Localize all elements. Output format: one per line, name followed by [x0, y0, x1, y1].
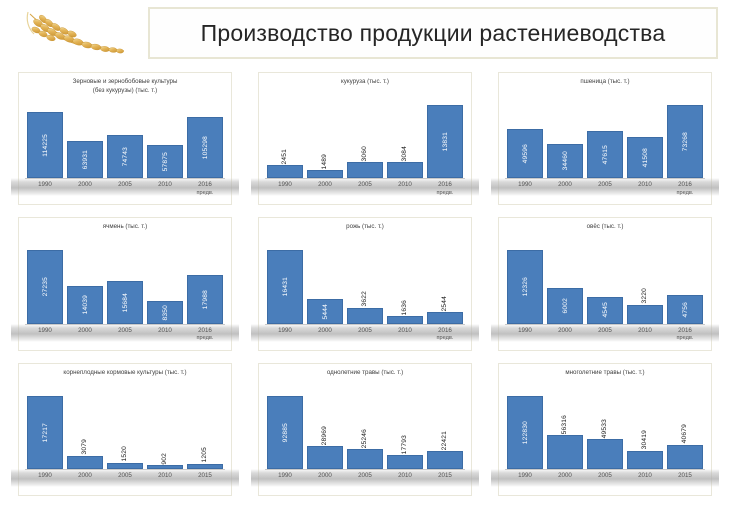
- bar-value-label: 1489: [321, 154, 328, 169]
- x-axis-tick-note: предв.: [667, 190, 703, 198]
- chart-title: ячмень (тыс. т.): [19, 223, 231, 232]
- x-axis-tick: 1990: [27, 181, 63, 189]
- x-axis: 19902000200520102016предв.: [25, 325, 225, 348]
- x-axis-tick: 2000: [307, 181, 343, 189]
- chart-panel-root-fodder-crops[interactable]: корнеплодные кормовые культуры (тыс. т.)…: [18, 363, 232, 496]
- bar-value-label: 16431: [282, 277, 289, 296]
- bar[interactable]: 3079: [67, 456, 103, 469]
- bar[interactable]: 3084: [387, 162, 423, 178]
- bar-slot: 5444: [307, 240, 343, 323]
- bar-value-label: 13831: [442, 132, 449, 151]
- bar-value-label: 74743: [122, 147, 129, 166]
- bar[interactable]: 22421: [427, 451, 463, 469]
- bar-slot: 63931: [67, 103, 103, 178]
- x-axis: 19902000200520102016предв.: [265, 179, 465, 202]
- bar[interactable]: 17988: [187, 275, 223, 323]
- bar-slot: 74743: [107, 103, 143, 178]
- bar-value-label: 3084: [401, 146, 408, 161]
- bar-slot: 57875: [147, 103, 183, 178]
- x-axis-tick-note: предв.: [667, 335, 703, 343]
- plot-area: 245114893060308413831: [265, 95, 465, 178]
- bar-slot: 1489: [307, 95, 343, 178]
- bar-slot: 4756: [667, 240, 703, 323]
- bar-slot: 14039: [67, 240, 103, 323]
- x-axis-tick: 1990: [27, 472, 63, 480]
- bar[interactable]: 3622: [347, 308, 383, 324]
- chart-title-line1: рожь (тыс. т.): [346, 223, 384, 230]
- bar[interactable]: 28969: [307, 446, 343, 469]
- chart-panel-grains[interactable]: Зерновые и зернобобовые культуры (без ку…: [18, 72, 232, 205]
- bar[interactable]: 5444: [307, 299, 343, 323]
- bar-value-label: 30419: [641, 430, 648, 449]
- chart-panel-corn[interactable]: кукуруза (тыс. т.) 245114893060308413831…: [258, 72, 472, 205]
- bar[interactable]: 1636: [387, 316, 423, 323]
- x-axis-tick: 2010: [147, 472, 183, 480]
- bar-slot: 17988: [187, 240, 223, 323]
- bar-value-label: 49596: [522, 144, 529, 163]
- chart-title: пшеница (тыс. т.): [499, 78, 711, 87]
- chart-title: рожь (тыс. т.): [259, 223, 471, 232]
- bar-slot: 73268: [667, 95, 703, 178]
- x-axis-tick: 2016предв.: [427, 181, 463, 197]
- bar-slot: 40679: [667, 386, 703, 469]
- page-title: Производство продукции растениеводства: [201, 20, 666, 47]
- x-axis-tick: 2005: [347, 472, 383, 480]
- plot-area: 272351403915684835017988: [25, 240, 225, 323]
- x-axis-tick-note: предв.: [187, 335, 223, 343]
- bar[interactable]: 27235: [27, 250, 63, 323]
- bar[interactable]: 8350: [147, 301, 183, 323]
- bar-value-label: 3622: [361, 291, 368, 306]
- chart-panel-perennial-grasses[interactable]: многолетние травы (тыс. т.) 122830563164…: [498, 363, 712, 496]
- bar[interactable]: 13831: [427, 105, 463, 178]
- bar-value-label: 1205: [201, 447, 208, 462]
- chart-title-line1: однолетние травы (тыс. т.): [327, 369, 403, 376]
- bar[interactable]: 47615: [587, 131, 623, 179]
- chart-title-line2: (без кукурузы) (тыс. т.): [93, 87, 157, 94]
- bar-value-label: 17988: [202, 290, 209, 309]
- bar-value-label: 40679: [681, 424, 688, 443]
- slide-title-box: Производство продукции растениеводства: [148, 7, 718, 59]
- bar-value-label: 49533: [601, 419, 608, 438]
- x-axis-tick: 2000: [67, 181, 103, 189]
- bar-value-label: 34460: [562, 151, 569, 170]
- bar-value-label: 17217: [42, 423, 49, 442]
- bar-value-label: 14039: [82, 295, 89, 314]
- x-axis-tick: 2010: [147, 327, 183, 335]
- bar-slot: 41508: [627, 95, 663, 178]
- x-axis-tick: 2005: [587, 472, 623, 480]
- chart-panel-oats[interactable]: овёс (тыс. т.) 123266002454532204756 199…: [498, 217, 712, 350]
- bar-value-label: 57875: [162, 152, 169, 171]
- x-axis: 19902000200520102016предв.: [25, 179, 225, 202]
- chart-title: Зерновые и зернобобовые культуры (без ку…: [19, 78, 231, 96]
- chart-title-line1: Зерновые и зернобобовые культуры: [73, 78, 178, 85]
- bar-slot: 92885: [267, 386, 303, 469]
- bar-value-label: 17793: [401, 435, 408, 454]
- chart-panel-barley[interactable]: ячмень (тыс. т.) 27235140391568483501798…: [18, 217, 232, 350]
- bar[interactable]: 4756: [667, 295, 703, 323]
- x-axis-tick: 2000: [547, 181, 583, 189]
- x-axis-tick: 2016предв.: [187, 181, 223, 197]
- chart-panel-wheat[interactable]: пшеница (тыс. т.) 4959634460476154150873…: [498, 72, 712, 205]
- chart-panel-annual-grasses[interactable]: однолетние травы (тыс. т.) 9288528969252…: [258, 363, 472, 496]
- x-axis-tick: 2015: [427, 472, 463, 480]
- bar-slot: 27235: [27, 240, 63, 323]
- bar-value-label: 114225: [42, 134, 49, 157]
- x-axis-tick: 1990: [507, 472, 543, 480]
- bar-slot: 13831: [427, 95, 463, 178]
- chart-title-line1: ячмень (тыс. т.): [103, 223, 147, 230]
- x-axis-tick: 1990: [267, 327, 303, 335]
- x-axis-tick: 2010: [627, 327, 663, 335]
- bar-slot: 22421: [427, 386, 463, 469]
- bar-value-label: 92885: [282, 423, 289, 442]
- bar[interactable]: 92885: [267, 396, 303, 469]
- bar-slot: 17217: [27, 386, 63, 469]
- bar-value-label: 22421: [441, 431, 448, 450]
- bar[interactable]: 16431: [267, 250, 303, 323]
- bar[interactable]: 12326: [507, 250, 543, 323]
- bar-slot: 2451: [267, 95, 303, 178]
- bar-value-label: 2544: [441, 296, 448, 311]
- bar[interactable]: 63931: [67, 141, 103, 178]
- bar-slot: 3220: [627, 240, 663, 323]
- bar-value-label: 47615: [602, 145, 609, 164]
- wheat-ears-logo: [12, 6, 140, 62]
- bar-value-label: 63931: [82, 150, 89, 169]
- x-axis-tick: 2005: [107, 472, 143, 480]
- bar-slot: 6002: [547, 240, 583, 323]
- bar-value-label: 4756: [682, 302, 689, 317]
- chart-title: кукуруза (тыс. т.): [259, 78, 471, 87]
- bar-slot: 2544: [427, 240, 463, 323]
- x-axis-tick: 1990: [507, 327, 543, 335]
- bar[interactable]: 4545: [587, 297, 623, 324]
- x-axis-tick: 2005: [347, 327, 383, 335]
- x-axis-tick: 2016предв.: [187, 327, 223, 343]
- bar[interactable]: 56316: [547, 435, 583, 469]
- bar-slot: 49533: [587, 386, 623, 469]
- x-axis: 19902000200520102016предв.: [505, 325, 705, 348]
- bar-slot: 47615: [587, 95, 623, 178]
- bar-slot: 105298: [187, 103, 223, 178]
- plot-area: 9288528969252461779322421: [265, 386, 465, 469]
- bar[interactable]: 15684: [107, 281, 143, 323]
- x-axis-tick: 2005: [587, 327, 623, 335]
- bar-value-label: 3079: [81, 439, 88, 454]
- x-axis-tick: 2005: [107, 181, 143, 189]
- bar[interactable]: 1489: [307, 170, 343, 178]
- bar-slot: 3060: [347, 95, 383, 178]
- x-axis-tick: 2015: [187, 472, 223, 480]
- x-axis-tick: 2015: [667, 472, 703, 480]
- x-axis-tick: 2000: [547, 327, 583, 335]
- x-axis-tick-note: предв.: [427, 190, 463, 198]
- bar-value-label: 12326: [522, 277, 529, 296]
- x-axis-tick: 2010: [627, 181, 663, 189]
- x-axis-tick: 2010: [387, 472, 423, 480]
- chart-title-line1: пшеница (тыс. т.): [580, 78, 629, 85]
- charts-grid: Зерновые и зернобобовые культуры (без ку…: [0, 66, 730, 506]
- bar[interactable]: 14039: [67, 286, 103, 324]
- bar[interactable]: 6002: [547, 288, 583, 324]
- chart-title: однолетние травы (тыс. т.): [259, 369, 471, 378]
- bar-value-label: 15684: [122, 293, 129, 312]
- chart-title: корнеплодные кормовые культуры (тыс. т.): [19, 369, 231, 378]
- bar[interactable]: 73268: [667, 105, 703, 178]
- chart-title-line1: многолетние травы (тыс. т.): [565, 369, 644, 376]
- x-axis-tick: 2000: [307, 327, 343, 335]
- bar-slot: 16431: [267, 240, 303, 323]
- bar[interactable]: 105298: [187, 117, 223, 178]
- x-axis: 19902000200520102015: [25, 470, 225, 493]
- bar-slot: 902: [147, 386, 183, 469]
- bar-value-label: 3220: [641, 288, 648, 303]
- chart-title-line1: корнеплодные кормовые культуры (тыс. т.): [63, 369, 186, 376]
- plot-area: 164315444362216362544: [265, 240, 465, 323]
- bar[interactable]: 17793: [387, 455, 423, 469]
- bar-slot: 4545: [587, 240, 623, 323]
- chart-title: овёс (тыс. т.): [499, 223, 711, 232]
- bar-slot: 34460: [547, 95, 583, 178]
- x-axis-tick: 1990: [267, 472, 303, 480]
- bar[interactable]: 25246: [347, 449, 383, 469]
- bar-value-label: 1636: [401, 300, 408, 315]
- x-axis-tick-note: предв.: [187, 190, 223, 198]
- bar-value-label: 41508: [642, 148, 649, 167]
- bar[interactable]: 49533: [587, 439, 623, 469]
- x-axis: 19902000200520102016предв.: [505, 179, 705, 202]
- bar[interactable]: 49596: [507, 129, 543, 179]
- chart-panel-rye[interactable]: рожь (тыс. т.) 164315444362216362544 199…: [258, 217, 472, 350]
- x-axis-tick: 1990: [267, 181, 303, 189]
- bar[interactable]: 2451: [267, 165, 303, 178]
- x-axis-tick: 2010: [387, 327, 423, 335]
- plot-area: 4959634460476154150873268: [505, 95, 705, 178]
- bar-value-label: 5444: [322, 304, 329, 319]
- x-axis-tick: 2005: [587, 181, 623, 189]
- bar-slot: 1636: [387, 240, 423, 323]
- bar[interactable]: 2544: [427, 312, 463, 323]
- chart-title-line1: кукуруза (тыс. т.): [341, 78, 389, 85]
- bar-value-label: 28969: [321, 426, 328, 445]
- x-axis: 19902000200520102015: [505, 470, 705, 493]
- x-axis-tick: 2016предв.: [667, 327, 703, 343]
- bar-slot: 3622: [347, 240, 383, 323]
- bar-slot: 8350: [147, 240, 183, 323]
- bar-value-label: 902: [161, 453, 168, 465]
- plot-area: 123266002454532204756: [505, 240, 705, 323]
- bar-slot: 1520: [107, 386, 143, 469]
- bar-slot: 3084: [387, 95, 423, 178]
- bar-value-label: 73268: [682, 132, 689, 151]
- bar-slot: 3079: [67, 386, 103, 469]
- bar[interactable]: 40679: [667, 445, 703, 469]
- x-axis-tick: 2010: [147, 181, 183, 189]
- bar-slot: 28969: [307, 386, 343, 469]
- bar[interactable]: 30419: [627, 451, 663, 469]
- bar[interactable]: 34460: [547, 144, 583, 178]
- bar-value-label: 25246: [361, 429, 368, 448]
- x-axis-tick: 2000: [67, 327, 103, 335]
- x-axis-tick: 2010: [387, 181, 423, 189]
- bar-value-label: 105298: [202, 136, 209, 159]
- x-axis-tick: 1990: [27, 327, 63, 335]
- bar-value-label: 27235: [42, 277, 49, 296]
- x-axis-tick: 2016предв.: [667, 181, 703, 197]
- x-axis-tick: 2010: [627, 472, 663, 480]
- plot-area: 12283056316495333041940679: [505, 386, 705, 469]
- bar-value-label: 4545: [602, 302, 609, 317]
- bar[interactable]: 17217: [27, 396, 63, 469]
- x-axis-tick: 1990: [507, 181, 543, 189]
- bar-slot: 1205: [187, 386, 223, 469]
- chart-title: многолетние травы (тыс. т.): [499, 369, 711, 378]
- bar-slot: 17793: [387, 386, 423, 469]
- bar[interactable]: 114225: [27, 112, 63, 178]
- x-axis-tick: 2000: [307, 472, 343, 480]
- bar-slot: 25246: [347, 386, 383, 469]
- plot-area: 114225639317474357875105298: [25, 103, 225, 178]
- bar-slot: 122830: [507, 386, 543, 469]
- bar-value-label: 1520: [121, 446, 128, 461]
- slide-header: Производство продукции растениеводства: [0, 0, 730, 66]
- bar-slot: 15684: [107, 240, 143, 323]
- bar-value-label: 2451: [281, 149, 288, 164]
- bar[interactable]: 57875: [147, 145, 183, 179]
- x-axis: 19902000200520102016предв.: [265, 325, 465, 348]
- x-axis-tick: 2005: [347, 181, 383, 189]
- bar-value-label: 56316: [561, 415, 568, 434]
- chart-title-line1: овёс (тыс. т.): [587, 223, 624, 230]
- bar[interactable]: 122830: [507, 396, 543, 469]
- x-axis-tick: 2000: [67, 472, 103, 480]
- bar-slot: 12326: [507, 240, 543, 323]
- bar-value-label: 122830: [522, 421, 529, 444]
- x-axis-tick: 2005: [107, 327, 143, 335]
- x-axis-tick: 2000: [547, 472, 583, 480]
- x-axis: 19902000200520102015: [265, 470, 465, 493]
- bar-value-label: 3060: [361, 146, 368, 161]
- bar[interactable]: 41508: [627, 137, 663, 179]
- bar[interactable]: 74743: [107, 135, 143, 178]
- x-axis-tick: 2016предв.: [427, 327, 463, 343]
- bar-value-label: 8350: [162, 305, 169, 320]
- bar[interactable]: 3220: [627, 305, 663, 324]
- bar-slot: 30419: [627, 386, 663, 469]
- x-axis-tick-note: предв.: [427, 335, 463, 343]
- plot-area: 17217307915209021205: [25, 386, 225, 469]
- bar-slot: 56316: [547, 386, 583, 469]
- bar[interactable]: 3060: [347, 162, 383, 178]
- bar-slot: 49596: [507, 95, 543, 178]
- bar-slot: 114225: [27, 103, 63, 178]
- slide-root: Производство продукции растениеводства З…: [0, 0, 730, 506]
- bar-value-label: 6002: [562, 298, 569, 313]
